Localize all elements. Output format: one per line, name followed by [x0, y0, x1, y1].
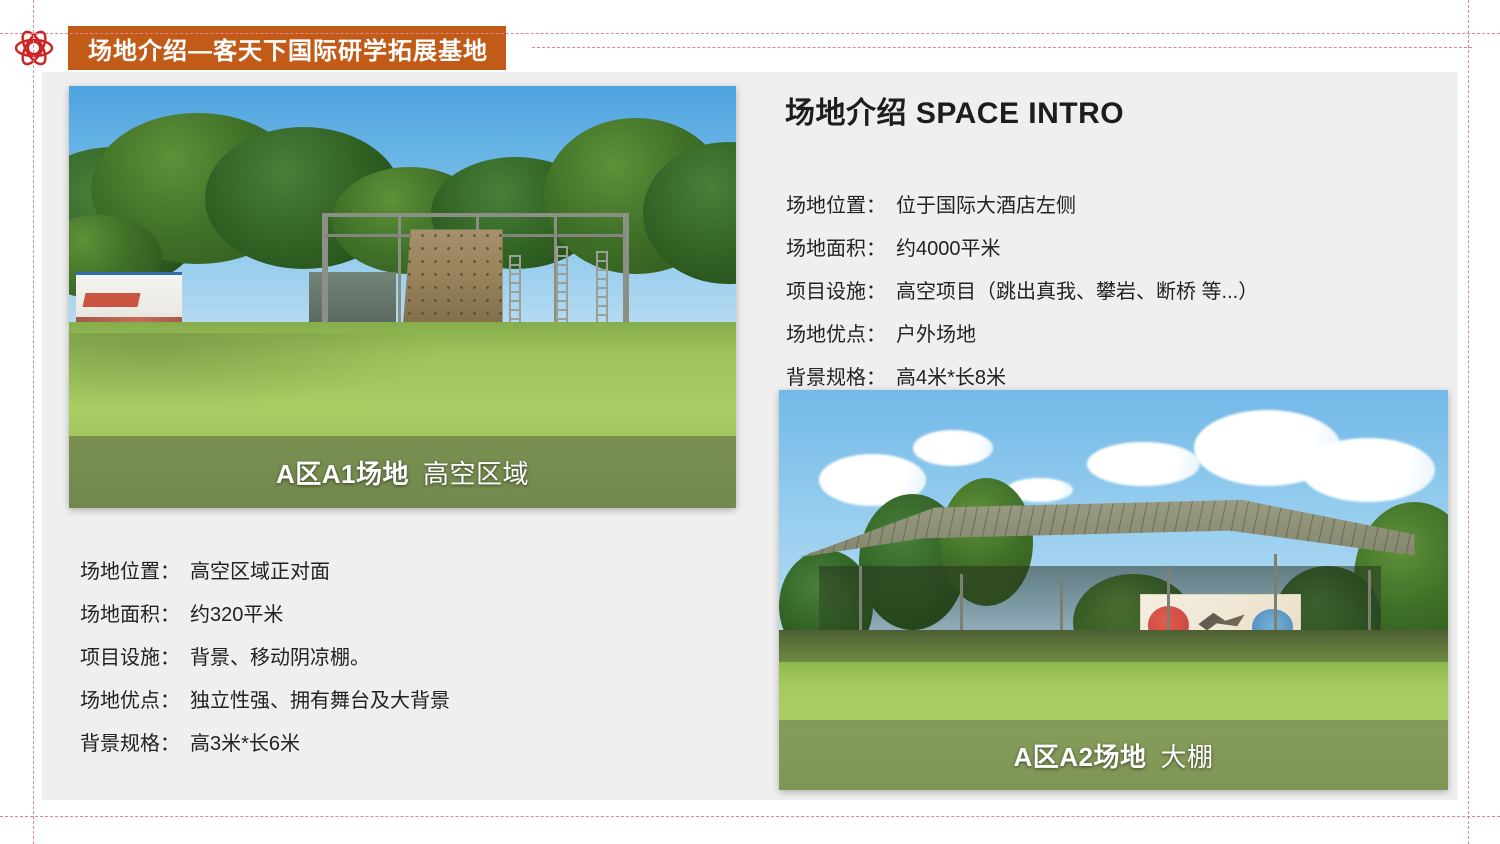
spec-separator: ： [866, 321, 886, 350]
cloud [913, 430, 993, 466]
spec-value: 高4米*长8米 [896, 364, 1006, 393]
spec-separator: ： [866, 192, 886, 221]
photo-a1-caption-subtitle: 高空区域 [423, 454, 529, 491]
atom-icon [10, 24, 58, 72]
spec-value: 约320平米 [190, 601, 283, 630]
spec-value: 高空区域正对面 [190, 558, 330, 587]
spec-value: 独立性强、拥有舞台及大背景 [190, 687, 450, 716]
crop-guide-left [33, 0, 34, 844]
spec-value: 高3米*长6米 [190, 730, 300, 759]
spec-separator: ： [866, 364, 886, 393]
spec-row: 背景规格 ： 高4米*长8米 [786, 364, 1426, 393]
photo-a2-caption-subtitle: 大棚 [1161, 737, 1214, 774]
spec-separator: ： [160, 730, 180, 759]
spec-label: 场地面积 [786, 235, 866, 264]
spec-separator: ： [160, 601, 180, 630]
spec-row: 场地面积 ： 约4000平米 [786, 235, 1426, 264]
space-intro-heading: 场地介绍 SPACE INTRO [785, 88, 1124, 132]
header-title-bar: 场地介绍—客天下国际研学拓展基地 [68, 26, 506, 70]
photo-a2-canopy-area: A区A2场地 大棚 [779, 390, 1448, 790]
spec-value: 户外场地 [896, 321, 976, 350]
spec-label: 场地位置 [786, 192, 866, 221]
crop-guide-right [1468, 0, 1469, 844]
cloud [1301, 438, 1435, 502]
spec-list-a1: 场地位置 ： 位于国际大酒店左侧 场地面积 ： 约4000平米 项目设施 ： 高… [786, 192, 1426, 407]
spec-label: 场地优点 [80, 687, 160, 716]
photo-a1-caption: A区A1场地 高空区域 [69, 436, 736, 508]
spec-row: 场地位置 ： 高空区域正对面 [80, 558, 700, 587]
spec-list-a2: 场地位置 ： 高空区域正对面 场地面积 ： 约320平米 项目设施 ： 背景、移… [80, 558, 700, 773]
spec-label: 场地位置 [80, 558, 160, 587]
ground-shadow [779, 630, 1448, 662]
spec-label: 项目设施 [80, 644, 160, 673]
photo-a2-caption: A区A2场地 大棚 [779, 720, 1448, 790]
spec-row: 场地优点 ： 户外场地 [786, 321, 1426, 350]
spec-separator: ： [160, 558, 180, 587]
spec-row: 场地位置 ： 位于国际大酒店左侧 [786, 192, 1426, 221]
spec-label: 背景规格 [80, 730, 160, 759]
spec-separator: ： [160, 687, 180, 716]
climbing-wall [403, 229, 503, 330]
slide-header: 场地介绍—客天下国际研学拓展基地 [10, 24, 506, 72]
spec-value: 位于国际大酒店左侧 [896, 192, 1076, 221]
spec-label: 背景规格 [786, 364, 866, 393]
photo-a2-caption-title: A区A2场地 [1013, 737, 1146, 774]
crop-guide-bottom [0, 816, 1500, 817]
spec-separator: ： [866, 278, 886, 307]
spec-row: 场地面积 ： 约320平米 [80, 601, 700, 630]
photo-a1-caption-title: A区A1场地 [276, 454, 409, 491]
spec-separator: ： [160, 644, 180, 673]
spec-label: 场地面积 [80, 601, 160, 630]
spec-label: 项目设施 [786, 278, 866, 307]
cloud [1087, 442, 1201, 486]
page-title: 场地介绍—客天下国际研学拓展基地 [88, 31, 488, 66]
spec-separator: ： [866, 235, 886, 264]
spec-row: 场地优点 ： 独立性强、拥有舞台及大背景 [80, 687, 700, 716]
spec-label: 场地优点 [786, 321, 866, 350]
photo-a1-high-ropes-area: A区A1场地 高空区域 [69, 86, 736, 508]
header-dashed-rule [532, 47, 1472, 48]
spec-value: 高空项目（跳出真我、攀岩、断桥 等...） [896, 278, 1258, 307]
spec-value: 背景、移动阴凉棚。 [190, 644, 370, 673]
spec-row: 背景规格 ： 高3米*长6米 [80, 730, 700, 759]
spec-row: 项目设施 ： 高空项目（跳出真我、攀岩、断桥 等...） [786, 278, 1426, 307]
spec-row: 项目设施 ： 背景、移动阴凉棚。 [80, 644, 700, 673]
spec-value: 约4000平米 [896, 235, 1001, 264]
